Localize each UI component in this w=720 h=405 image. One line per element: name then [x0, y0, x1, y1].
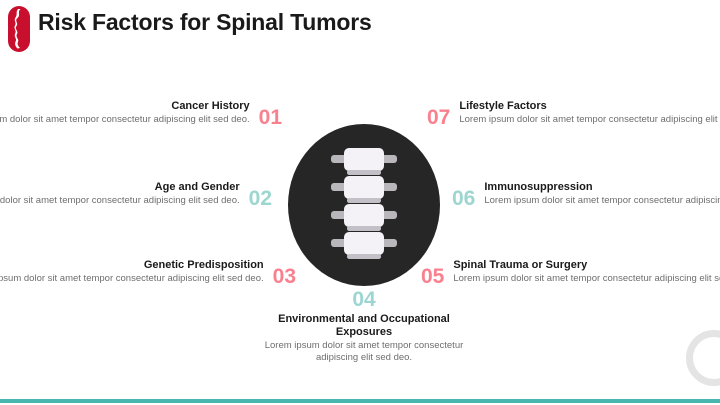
risk-item-05-body: Lorem ipsum dolor sit amet tempor consec…: [453, 273, 720, 286]
risk-item-06-heading: Immunosuppression: [484, 181, 720, 194]
risk-item-04-number: 04: [352, 289, 375, 310]
risk-item-04-text: Environmental and Occupational Exposures…: [254, 313, 474, 365]
risk-item-07-heading: Lifestyle Factors: [459, 100, 720, 113]
accent-bar: [0, 399, 720, 403]
risk-item-07[interactable]: 07 Lifestyle Factors Lorem ipsum dolor s…: [427, 100, 667, 128]
risk-item-05-number: 05: [421, 266, 444, 287]
risk-item-05-heading: Spinal Trauma or Surgery: [453, 259, 720, 272]
risk-item-06-text: Immunosuppression Lorem ipsum dolor sit …: [484, 181, 720, 208]
risk-item-04-heading: Environmental and Occupational Exposures: [254, 313, 474, 339]
spine-logo-icon: [8, 6, 30, 52]
risk-item-03-heading: Genetic Predisposition: [0, 259, 264, 272]
risk-item-01[interactable]: Cancer History Lorem ipsum dolor sit ame…: [56, 100, 282, 128]
risk-item-02-body: Lorem ipsum dolor sit amet tempor consec…: [0, 195, 240, 208]
risk-item-03[interactable]: Genetic Predisposition Lorem ipsum dolor…: [56, 259, 296, 287]
slide-canvas: Risk Factors for Spinal Tumors: [0, 0, 720, 405]
risk-item-01-heading: Cancer History: [0, 100, 250, 113]
risk-item-04-body: Lorem ipsum dolor sit amet tempor consec…: [254, 340, 474, 365]
risk-item-05-text: Spinal Trauma or Surgery Lorem ipsum dol…: [453, 259, 720, 286]
risk-item-02-heading: Age and Gender: [0, 181, 240, 194]
vertebrae-stack-icon: [327, 146, 401, 264]
page-title: Risk Factors for Spinal Tumors: [38, 9, 372, 36]
risk-item-02[interactable]: Age and Gender Lorem ipsum dolor sit ame…: [26, 181, 272, 209]
risk-item-03-number: 03: [273, 266, 296, 287]
risk-item-01-body: Lorem ipsum dolor sit amet tempor consec…: [0, 114, 250, 127]
risk-item-02-text: Age and Gender Lorem ipsum dolor sit ame…: [0, 181, 240, 208]
risk-item-07-number: 07: [427, 107, 450, 128]
risk-item-01-number: 01: [259, 107, 282, 128]
slide-header: Risk Factors for Spinal Tumors: [0, 0, 720, 58]
center-circle: [288, 124, 440, 286]
risk-item-05[interactable]: 05 Spinal Trauma or Surgery Lorem ipsum …: [421, 259, 671, 287]
risk-item-02-number: 02: [249, 188, 272, 209]
risk-item-06-number: 06: [452, 188, 475, 209]
risk-item-07-body: Lorem ipsum dolor sit amet tempor consec…: [459, 114, 720, 127]
risk-item-04[interactable]: 04 Environmental and Occupational Exposu…: [254, 289, 474, 365]
risk-item-03-text: Genetic Predisposition Lorem ipsum dolor…: [0, 259, 264, 286]
risk-item-06-body: Lorem ipsum dolor sit amet tempor consec…: [484, 195, 720, 208]
risk-item-06[interactable]: 06 Immunosuppression Lorem ipsum dolor s…: [452, 181, 696, 209]
risk-item-01-text: Cancer History Lorem ipsum dolor sit ame…: [0, 100, 250, 127]
risk-item-07-text: Lifestyle Factors Lorem ipsum dolor sit …: [459, 100, 720, 127]
decorative-ring: [686, 330, 720, 386]
risk-item-03-body: Lorem ipsum dolor sit amet tempor consec…: [0, 273, 264, 286]
